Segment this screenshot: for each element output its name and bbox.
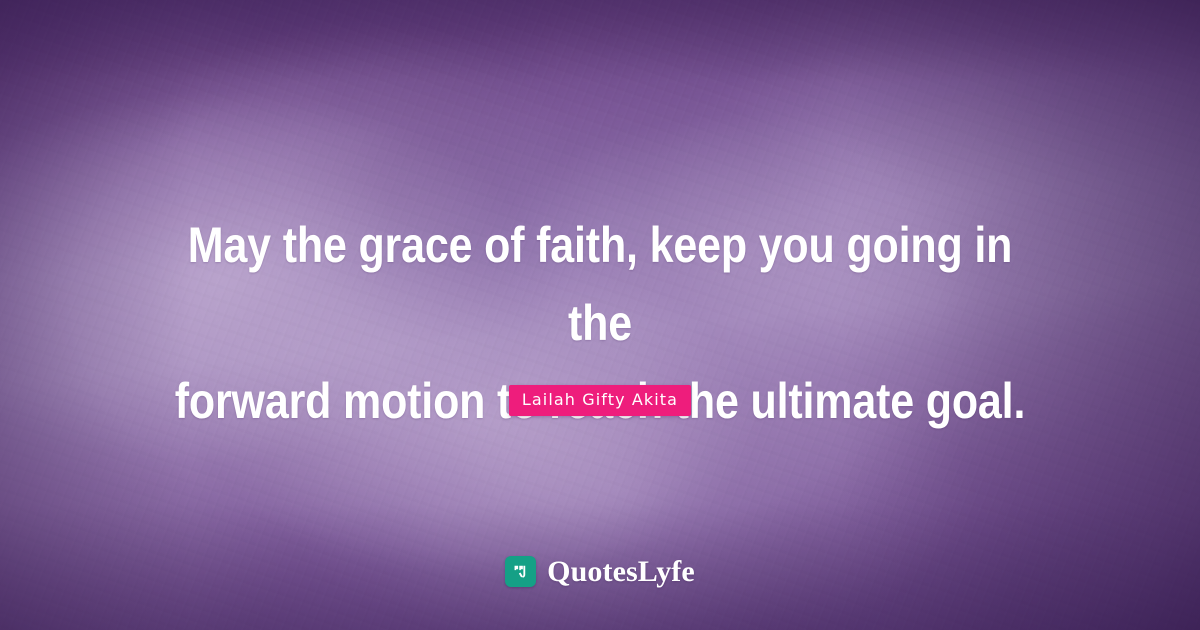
quote-card: May the grace of faith, keep you going i… <box>0 0 1200 630</box>
brand-logo: QuotesLyfe <box>0 556 1200 587</box>
card-content: May the grace of faith, keep you going i… <box>0 0 1200 630</box>
quote-mark-icon <box>505 556 536 587</box>
brand-name: QuotesLyfe <box>547 557 695 587</box>
author-attribution: Lailah Gifty Akita <box>0 385 1200 416</box>
author-name-badge: Lailah Gifty Akita <box>509 385 691 416</box>
